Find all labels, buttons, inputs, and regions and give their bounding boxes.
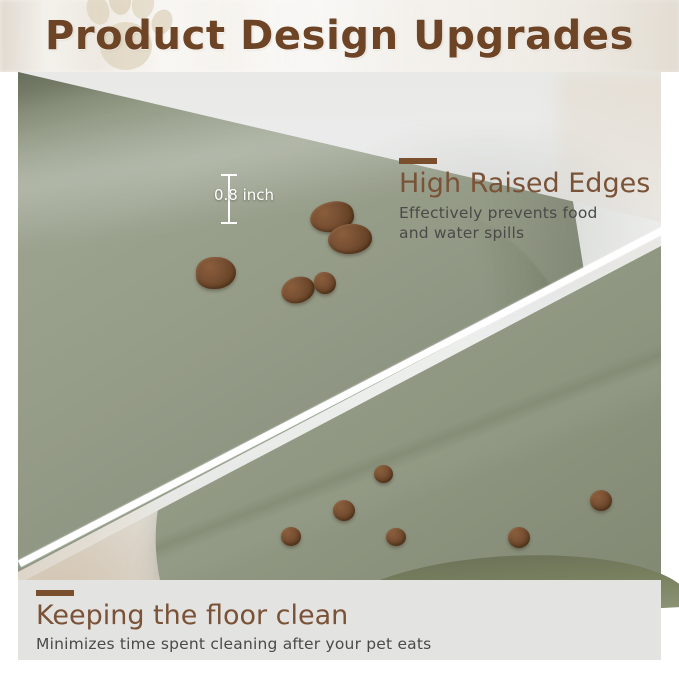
kibble-piece [281, 527, 301, 546]
page-title: Product Design Upgrades [0, 0, 679, 72]
caption-title: Keeping the floor clean [36, 601, 636, 631]
accent-bar [36, 590, 74, 596]
kibble-piece [333, 500, 355, 521]
feature-block-raised-edges: High Raised Edges Effectively prevents f… [399, 158, 661, 244]
accent-bar [399, 158, 437, 164]
dimension-cap-top [221, 174, 237, 176]
feature-subtitle: Effectively prevents food and water spil… [399, 203, 661, 243]
kibble-piece [314, 272, 336, 294]
dimension-label: 0.8 inch [214, 186, 274, 204]
feature-subtitle-line-1: Effectively prevents food [399, 203, 661, 223]
kibble-piece [508, 527, 530, 548]
product-infographic: Product Design Upgrades smilcol [0, 0, 679, 679]
title-band: Product Design Upgrades [0, 0, 679, 72]
dimension-cap-bottom [221, 222, 237, 224]
caption-band: Keeping the floor clean Minimizes time s… [18, 580, 661, 660]
caption-subtitle: Minimizes time spent cleaning after your… [36, 635, 636, 653]
kibble-piece [374, 465, 393, 483]
dimension-callout: 0.8 inch [214, 170, 314, 228]
kibble-piece [386, 528, 406, 546]
feature-subtitle-line-2: and water spills [399, 223, 661, 243]
feature-title: High Raised Edges [399, 169, 661, 199]
kibble-piece [590, 490, 612, 511]
feature-block-floor-clean: Keeping the floor clean Minimizes time s… [36, 590, 636, 653]
